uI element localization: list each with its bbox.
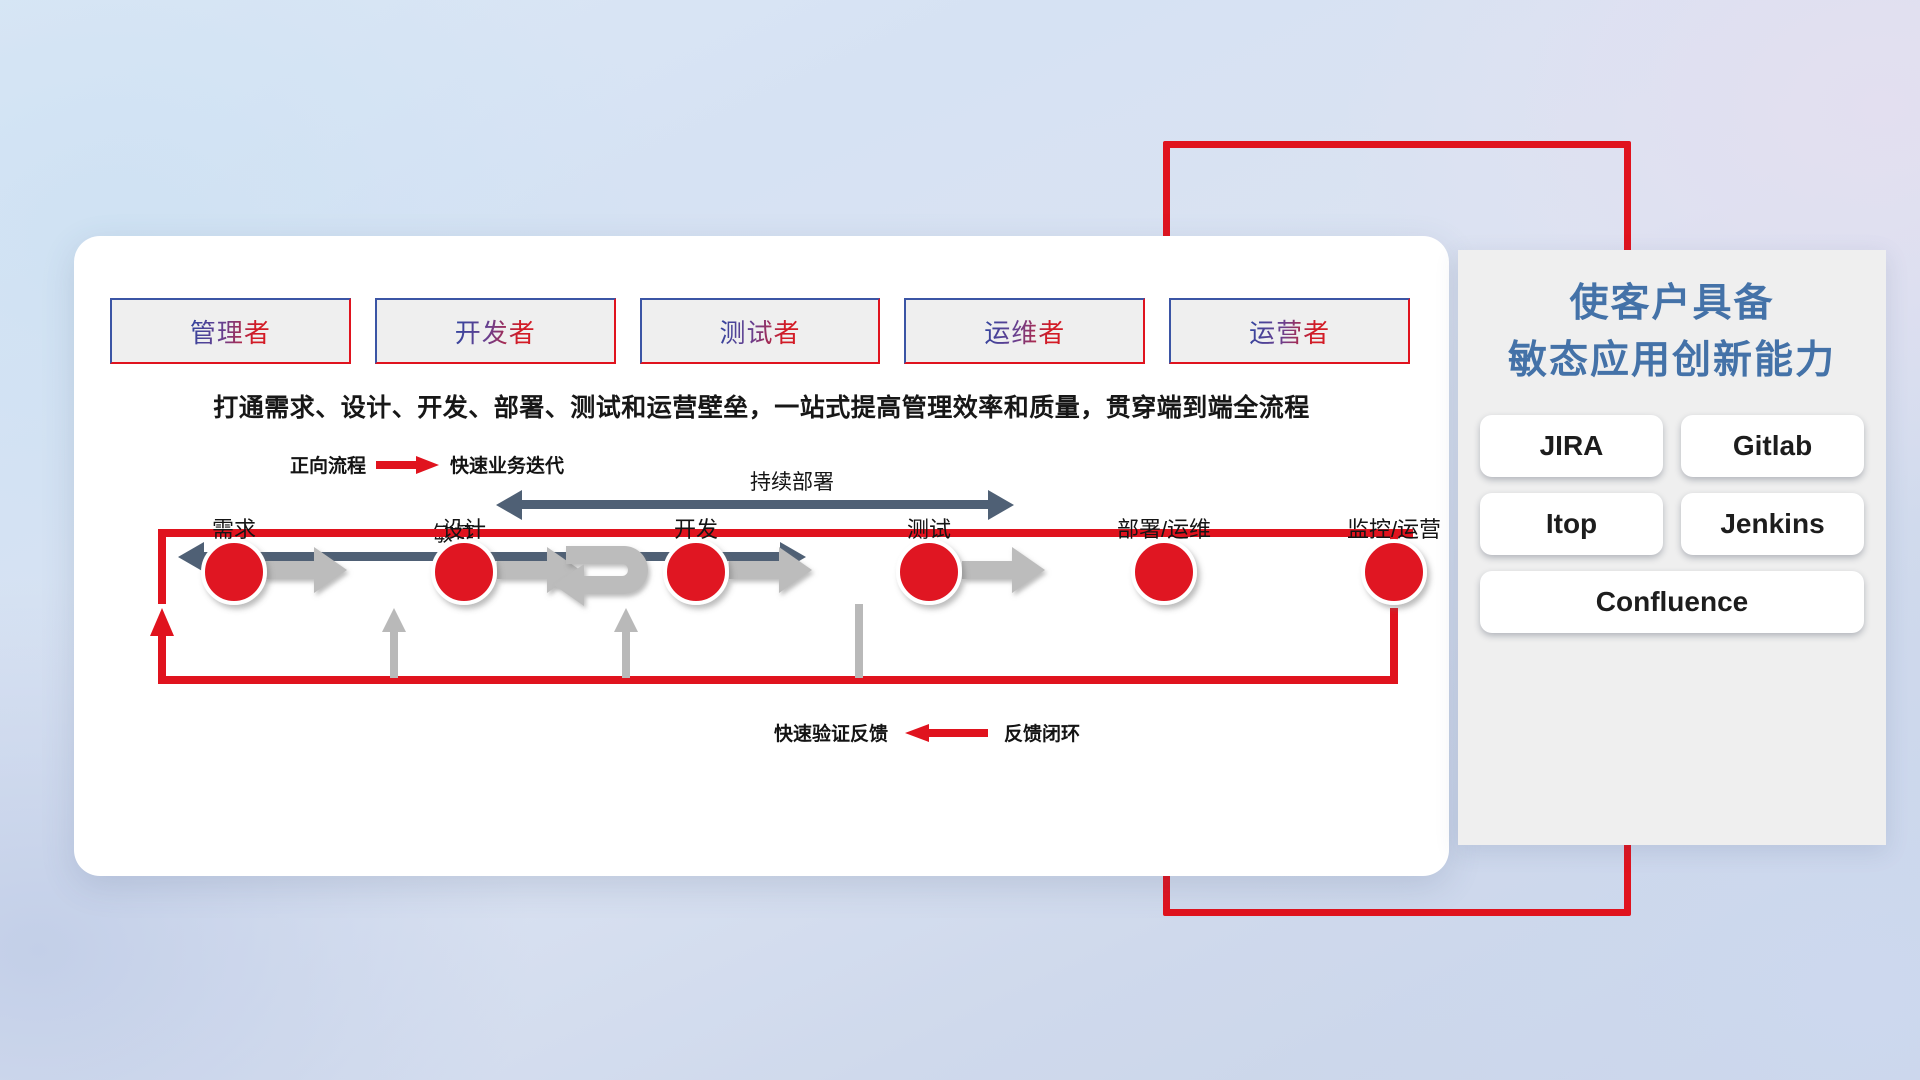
side-panel-title-line1: 使客户具备 (1480, 276, 1864, 333)
stage-node-deploy-ops[interactable] (1133, 541, 1195, 603)
dev-test-loop-arrow-icon (554, 546, 648, 606)
stage-node-monitor-operate[interactable] (1363, 541, 1425, 603)
stage-nodes (203, 541, 1425, 603)
toolchain-side-panel: 使客户具备 敏态应用创新能力 JIRA Gitlab Itop Jenkins … (1458, 250, 1886, 845)
chevron-arrow-icon (962, 547, 1045, 593)
stage-label-design: 设计 (442, 512, 486, 544)
stage-feedback-stems (382, 604, 863, 678)
tool-item-confluence[interactable]: Confluence (1480, 571, 1864, 633)
main-diagram-card: 管理者 开发者 测试者 运维者 运营者 打通需求、设计、开发、部署、测试和运营壁… (74, 236, 1449, 876)
tool-item-jenkins[interactable]: Jenkins (1681, 493, 1864, 555)
stage-label-monitor-operate: 监控/运营 (1347, 512, 1441, 544)
stage-node-development[interactable] (665, 541, 727, 603)
tool-list: JIRA Gitlab Itop Jenkins Confluence (1480, 415, 1864, 633)
stage-label-development: 开发 (674, 512, 718, 544)
stage-label-testing: 测试 (907, 512, 951, 544)
stage-node-design[interactable] (433, 541, 495, 603)
stage-node-testing[interactable] (898, 541, 960, 603)
stage-node-requirement[interactable] (203, 541, 265, 603)
pipeline-diagram (74, 236, 1449, 876)
tool-item-jira[interactable]: JIRA (1480, 415, 1663, 477)
side-panel-title: 使客户具备 敏态应用创新能力 (1480, 276, 1864, 389)
tool-item-gitlab[interactable]: Gitlab (1681, 415, 1864, 477)
stage-label-deploy-ops: 部署/运维 (1117, 512, 1211, 544)
stage-label-requirement: 需求 (212, 512, 256, 544)
tool-item-itop[interactable]: Itop (1480, 493, 1663, 555)
side-panel-title-line2: 敏态应用创新能力 (1480, 333, 1864, 390)
